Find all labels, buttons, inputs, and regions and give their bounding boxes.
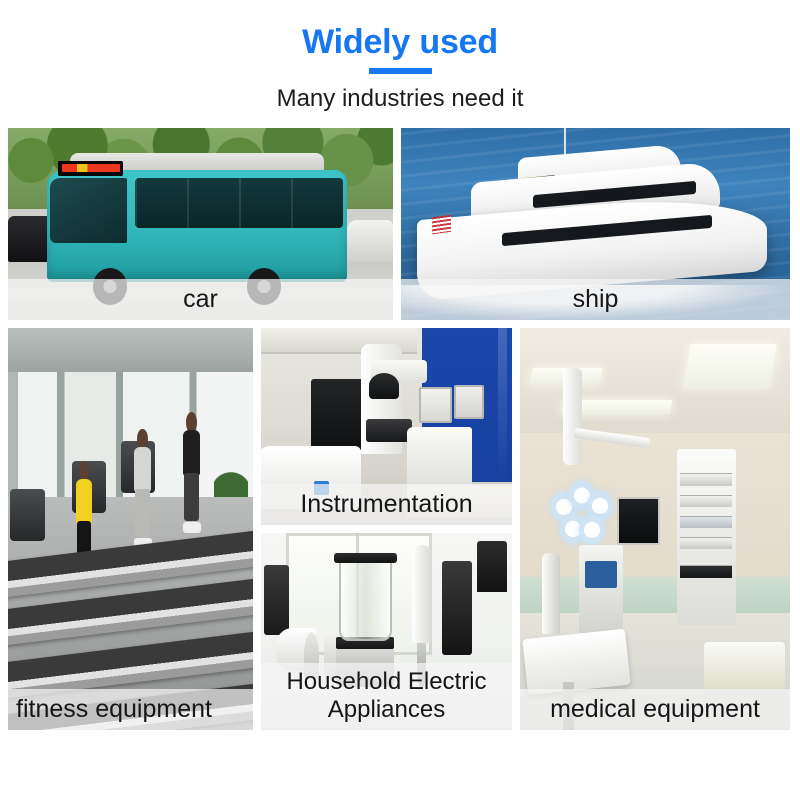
bus-side-windows [135,178,343,228]
appliance-kettle [264,565,289,636]
tile-caption-car: car [8,279,393,320]
ceiling-boom-mount [563,368,582,464]
microscope-eyepiece [369,373,399,399]
cart-shelf [680,537,732,549]
bus-destination-sign [58,161,123,176]
appliance-dark-body [442,561,472,656]
tile-caption-instrumentation: Instrumentation [261,484,512,525]
page-title: Widely used [0,22,800,62]
ceiling-panel-light-2 [683,344,777,388]
lab-monitor-left [419,387,452,422]
industry-gallery-grid: car ship [8,128,790,730]
appliance-far-right [477,541,507,592]
endoscopy-equipment-cart [677,449,736,626]
tile-caption-medical: medical equipment [520,689,790,730]
microscope-stage [366,419,411,443]
gym-ceiling [8,328,253,372]
cart-shelf [680,516,732,528]
gallery-tile-car[interactable]: car [8,128,393,320]
immersion-blender [412,545,432,644]
tile-caption-appliances: Household Electric Appliances [261,663,512,730]
operating-table [523,628,631,695]
gallery-tile-appliances[interactable]: Household Electric Appliances [261,533,512,730]
gas-cylinder [542,553,561,633]
runner-legs [184,473,199,521]
surgical-light-head [550,481,615,545]
anesthesia-machine [579,545,622,633]
cart-shelf [680,565,732,577]
blender-jar [339,559,392,642]
promo-banner: Widely used Many industries need it car [0,0,800,800]
runner-legs [135,489,150,537]
operating-room-photo [520,328,790,730]
gallery-tile-ship[interactable]: ship [401,128,790,320]
gallery-tile-fitness[interactable]: fitness equipment [8,328,253,730]
or-side-table [704,642,785,690]
gallery-tile-medical[interactable]: medical equipment [520,328,790,730]
yacht-flag [432,215,451,235]
bus-windshield [50,178,127,243]
gym-runner-2 [131,429,156,550]
gym-runner-3 [180,412,205,533]
surgical-lamp-pod [579,515,605,545]
lab-dark-monitor [311,379,366,450]
or-lower-wall [520,577,790,613]
cart-shelf [680,473,732,485]
or-display-monitor [617,497,660,545]
runner-torso [76,479,93,525]
runner-torso [134,447,151,493]
banner-header: Widely used Many industries need it [0,0,800,124]
title-underline-rule [369,68,432,74]
runner-shoe [183,522,201,533]
page-subtitle: Many industries need it [0,84,800,114]
tile-caption-ship: ship [401,279,790,320]
gallery-tile-instrumentation[interactable]: Instrumentation [261,328,512,525]
cart-shelf [680,495,732,507]
lab-monitor-right [454,385,484,418]
runner-head [137,429,148,450]
parked-white-car [347,220,393,262]
gym-photo [8,328,253,730]
blender-lid [334,553,397,563]
treadmill-console-1 [10,489,44,541]
tile-caption-fitness: fitness equipment [8,689,253,730]
runner-torso [183,430,200,476]
